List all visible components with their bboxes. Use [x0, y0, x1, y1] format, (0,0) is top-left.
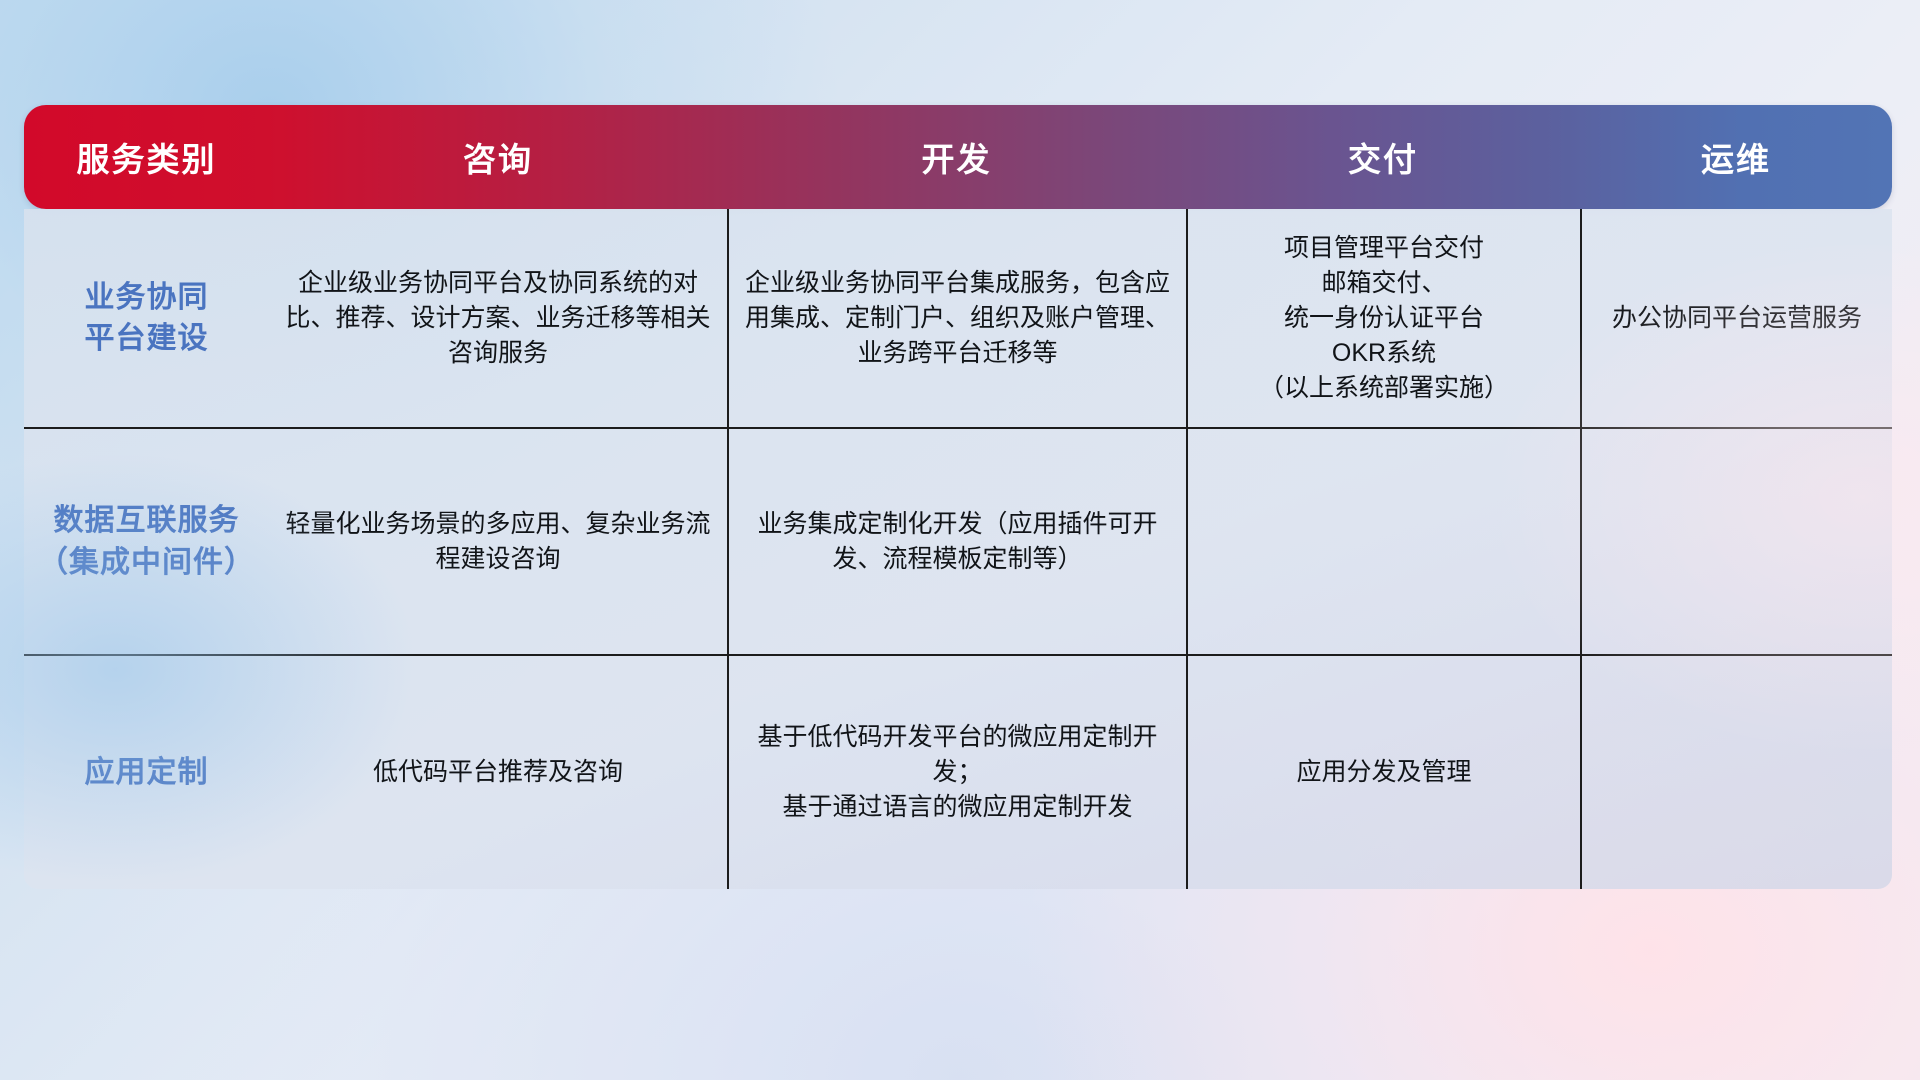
- column-header-consulting: 咨询: [269, 133, 727, 181]
- cell-delivery: [1186, 429, 1580, 654]
- table-body: 业务协同平台建设 企业级业务协同平台及协同系统的对比、推荐、设计方案、业务迁移等…: [24, 209, 1892, 889]
- cell-development: 企业级业务协同平台集成服务，包含应用集成、定制门户、组织及账户管理、业务跨平台迁…: [727, 209, 1186, 427]
- column-header-operations: 运维: [1580, 133, 1892, 181]
- cell-consulting: 企业级业务协同平台及协同系统的对比、推荐、设计方案、业务迁移等相关咨询服务: [269, 209, 727, 427]
- cell-development: 基于低代码开发平台的微应用定制开发；基于通过语言的微应用定制开发: [727, 656, 1186, 889]
- slide-canvas: 服务类别 咨询 开发 交付 运维 业务协同平台建设 企业级业务协同平台及协同系统…: [0, 0, 1920, 1080]
- table-header-row: 服务类别 咨询 开发 交付 运维: [24, 105, 1892, 209]
- cell-category: 数据互联服务（集成中间件）: [24, 429, 269, 654]
- column-header-category: 服务类别: [24, 133, 269, 181]
- cell-consulting: 低代码平台推荐及咨询: [269, 656, 727, 889]
- column-header-development: 开发: [727, 133, 1186, 181]
- cell-operations: 办公协同平台运营服务: [1580, 209, 1892, 427]
- cell-operations: [1580, 656, 1892, 889]
- cell-delivery: 项目管理平台交付邮箱交付、统一身份认证平台OKR系统（以上系统部署实施）: [1186, 209, 1580, 427]
- column-header-delivery: 交付: [1186, 133, 1580, 181]
- cell-development: 业务集成定制化开发（应用插件可开发、流程模板定制等）: [727, 429, 1186, 654]
- service-matrix-table: 服务类别 咨询 开发 交付 运维 业务协同平台建设 企业级业务协同平台及协同系统…: [24, 105, 1892, 889]
- table-row: 应用定制 低代码平台推荐及咨询 基于低代码开发平台的微应用定制开发；基于通过语言…: [24, 654, 1892, 889]
- cell-category: 业务协同平台建设: [24, 209, 269, 427]
- table-row: 业务协同平台建设 企业级业务协同平台及协同系统的对比、推荐、设计方案、业务迁移等…: [24, 209, 1892, 427]
- cell-delivery: 应用分发及管理: [1186, 656, 1580, 889]
- cell-operations: [1580, 429, 1892, 654]
- cell-category: 应用定制: [24, 656, 269, 889]
- table-row: 数据互联服务（集成中间件） 轻量化业务场景的多应用、复杂业务流程建设咨询 业务集…: [24, 427, 1892, 654]
- cell-consulting: 轻量化业务场景的多应用、复杂业务流程建设咨询: [269, 429, 727, 654]
